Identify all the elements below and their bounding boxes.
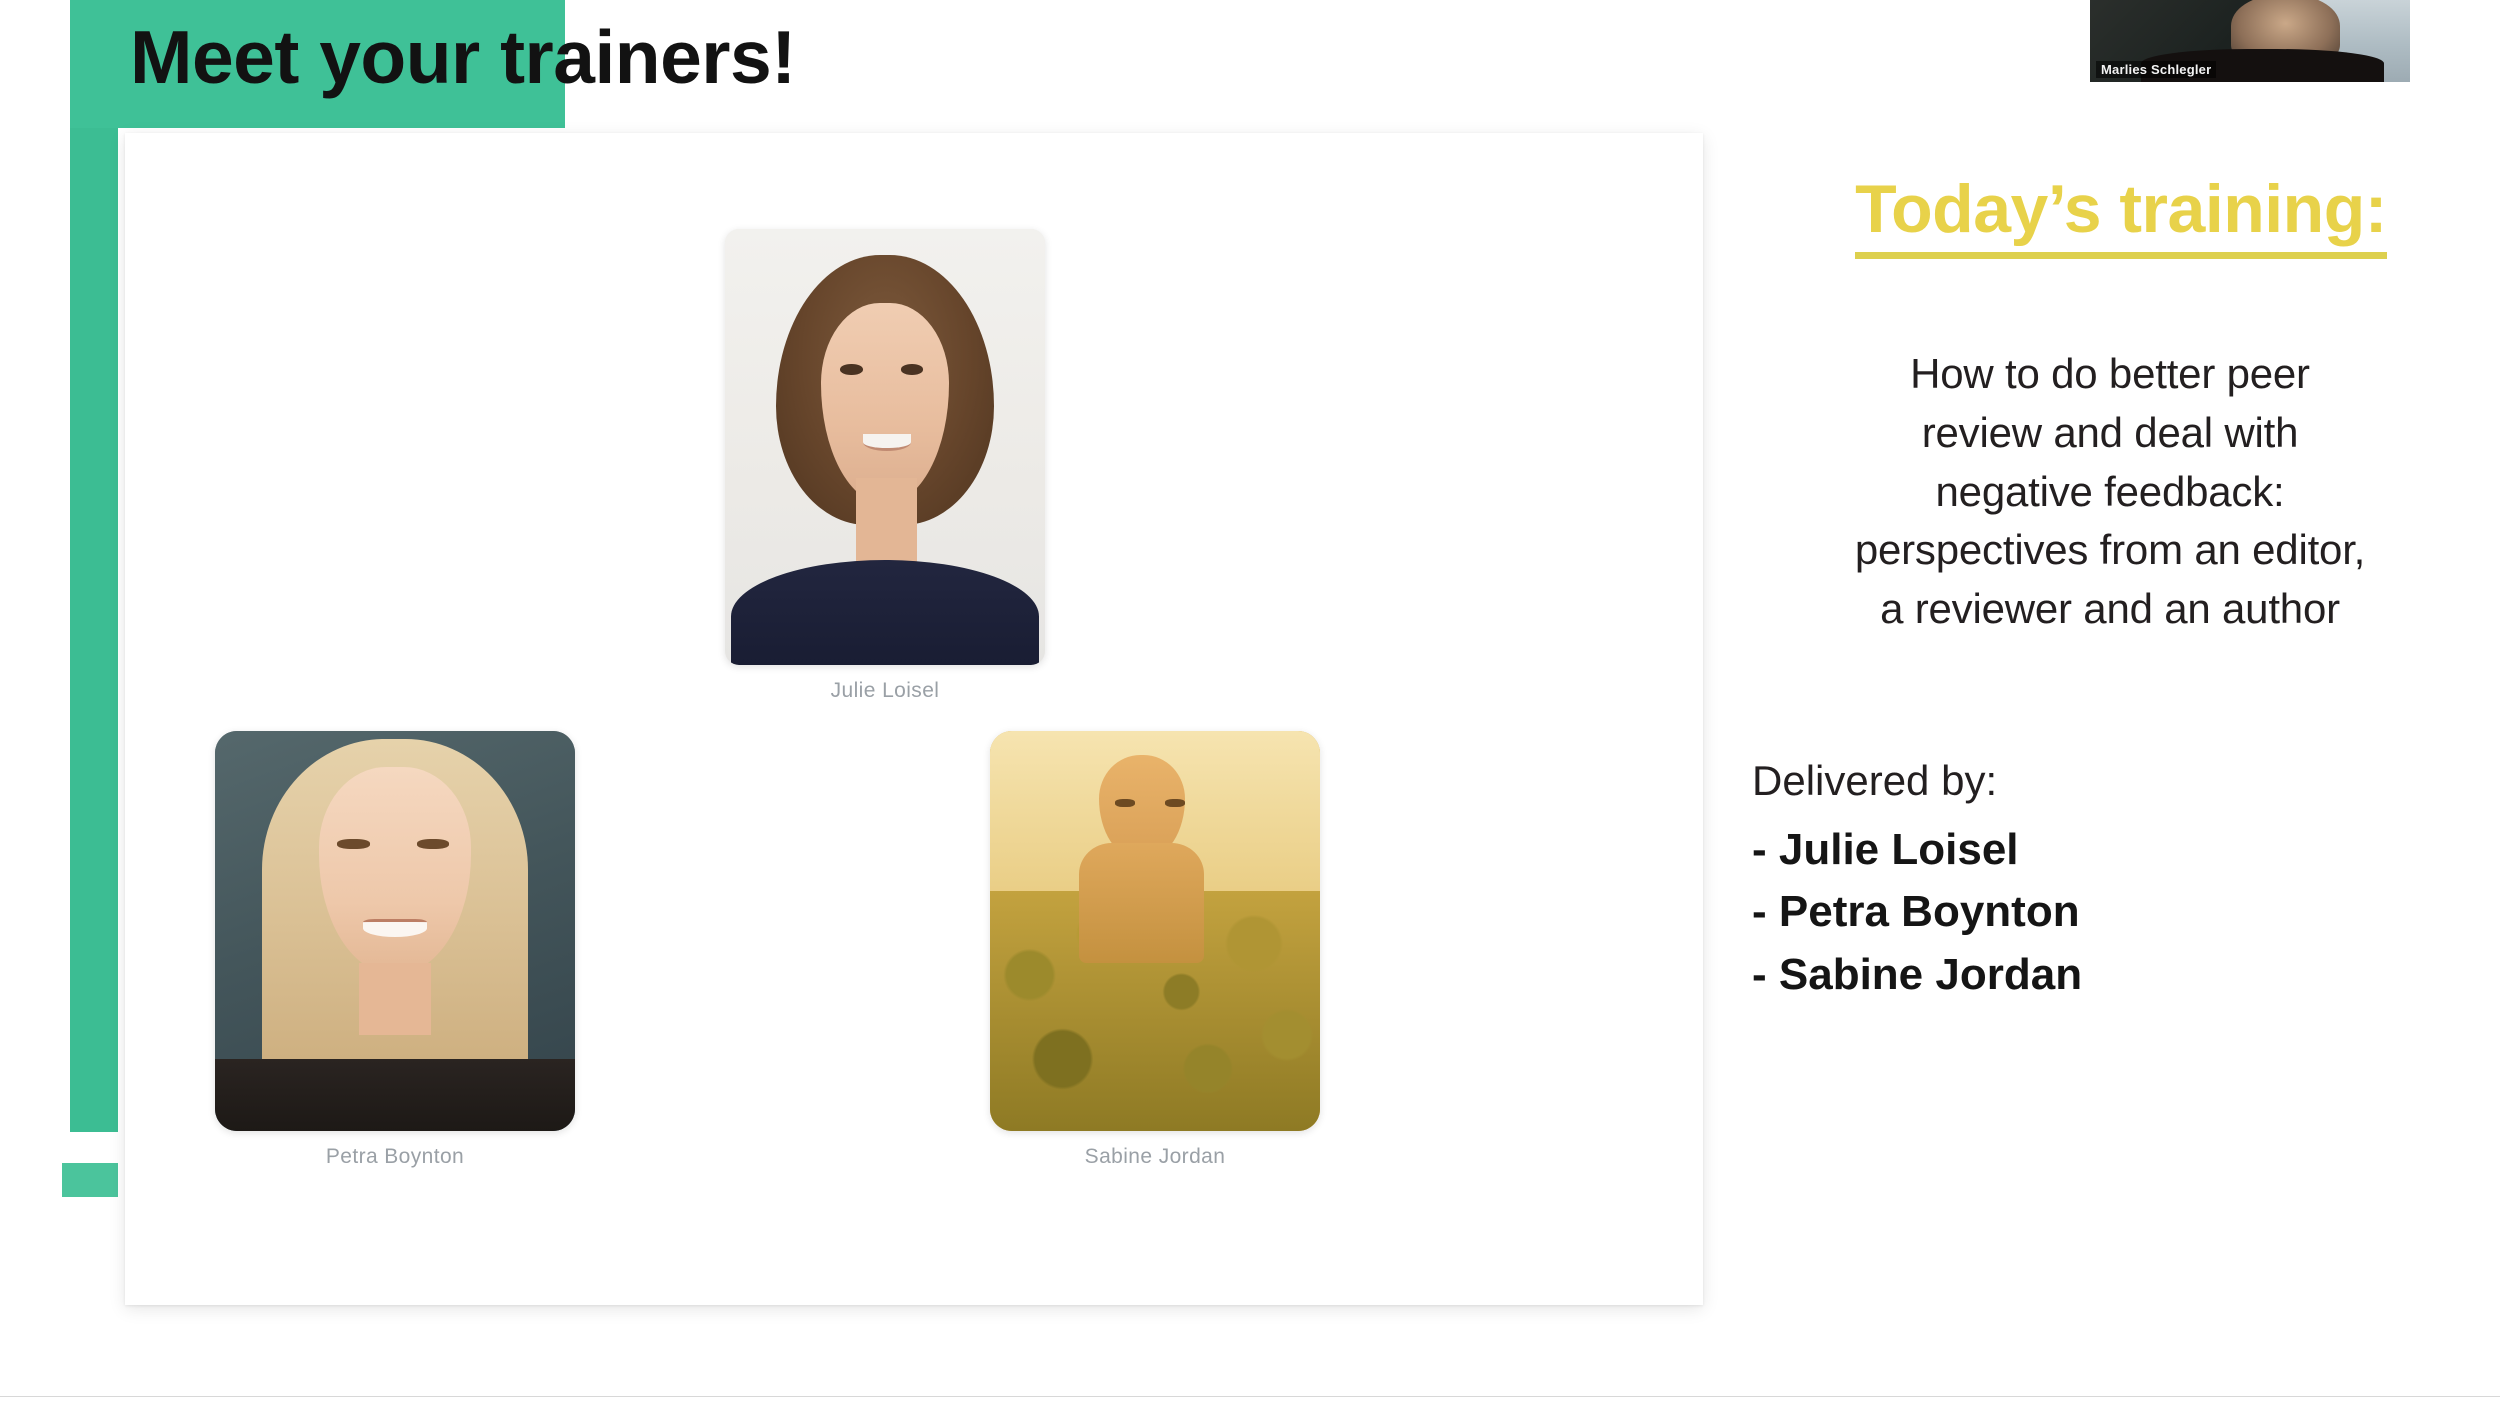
bottom-divider xyxy=(0,1396,2500,1397)
webcam-participant-name: Marlies Schlegler xyxy=(2096,61,2216,78)
trainer-caption-petra-boynton: Petra Boynton xyxy=(215,1145,575,1169)
training-description: How to do better peer review and deal wi… xyxy=(1740,345,2480,639)
trainer-photo-julie-loisel xyxy=(725,229,1045,665)
presentation-slide: Meet your trainers! Julie Loisel xyxy=(0,0,2500,1406)
training-description-line: review and deal with xyxy=(1740,404,2480,463)
list-item: - Julie Loisel xyxy=(1752,819,2480,881)
trainer-photo-sabine-jordan xyxy=(990,731,1320,1131)
training-info-panel: Today’s training: How to do better peer … xyxy=(1740,170,2480,1006)
delivered-by-block: Delivered by: - Julie Loisel - Petra Boy… xyxy=(1740,757,2480,1006)
trainer-caption-julie-loisel: Julie Loisel xyxy=(725,679,1045,703)
webcam-participant-tile[interactable]: Marlies Schlegler xyxy=(2090,0,2410,82)
training-description-line: a reviewer and an author xyxy=(1740,580,2480,639)
green-accent-chip xyxy=(62,1163,118,1197)
trainer-caption-sabine-jordan: Sabine Jordan xyxy=(990,1145,1320,1169)
trainer-sabine-jordan: Sabine Jordan xyxy=(990,731,1320,1169)
trainer-photo-petra-boynton xyxy=(215,731,575,1131)
list-item: - Petra Boynton xyxy=(1752,881,2480,943)
delivered-by-list: - Julie Loisel - Petra Boynton - Sabine … xyxy=(1752,819,2480,1006)
trainer-julie-loisel: Julie Loisel xyxy=(725,229,1045,703)
green-accent-bar xyxy=(70,0,118,1132)
training-description-line: negative feedback: xyxy=(1740,463,2480,522)
training-description-line: perspectives from an editor, xyxy=(1740,521,2480,580)
todays-training-heading: Today’s training: xyxy=(1855,170,2387,259)
training-description-line: How to do better peer xyxy=(1740,345,2480,404)
page-title: Meet your trainers! xyxy=(130,18,796,97)
delivered-by-label: Delivered by: xyxy=(1752,757,2480,805)
list-item: - Sabine Jordan xyxy=(1752,944,2480,1006)
trainers-card: Julie Loisel Petra Boynton xyxy=(125,133,1703,1305)
trainer-petra-boynton: Petra Boynton xyxy=(215,731,575,1169)
